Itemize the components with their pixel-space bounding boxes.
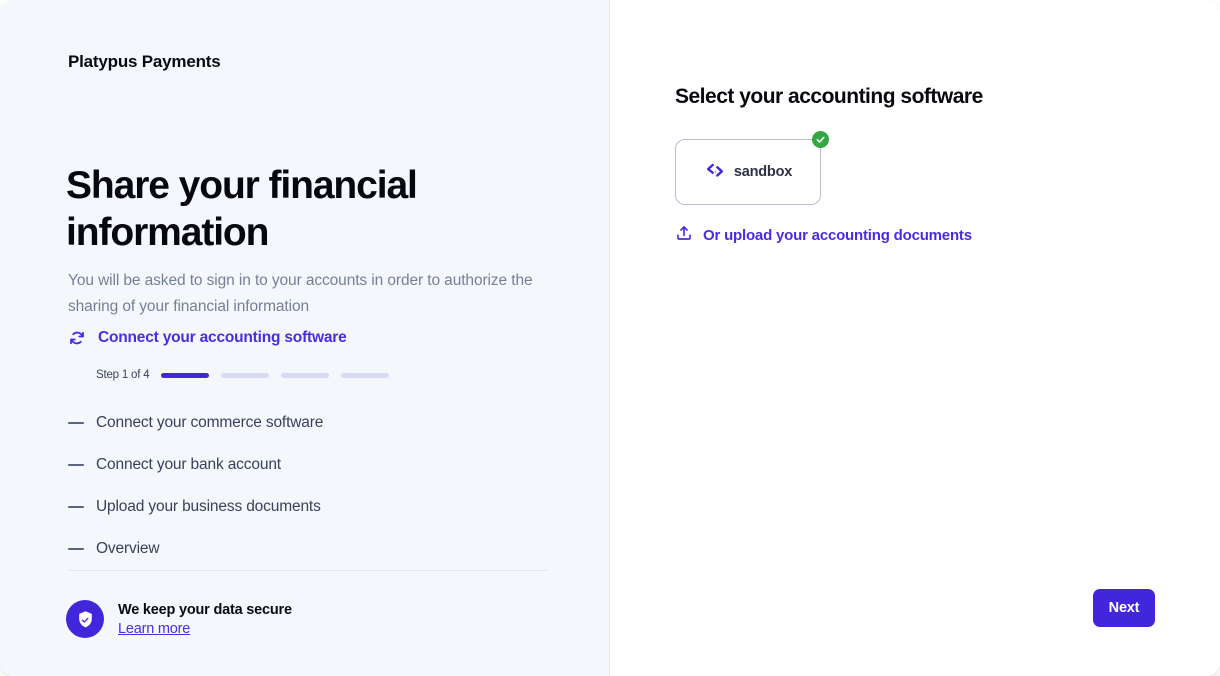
data-security-block: We keep your data secure Learn more xyxy=(66,600,292,638)
step-item-bank[interactable]: Connect your bank account xyxy=(68,444,548,486)
learn-more-link[interactable]: Learn more xyxy=(118,621,292,637)
progress-track xyxy=(161,373,389,378)
dash-icon xyxy=(68,464,84,466)
onboarding-screen: Platypus Payments Share your financial i… xyxy=(0,0,1220,676)
data-security-title: We keep your data secure xyxy=(118,602,292,618)
progress-segment-4 xyxy=(341,373,389,378)
step-label: Upload your business documents xyxy=(96,498,321,516)
step-item-active[interactable]: Connect your accounting software xyxy=(68,329,347,347)
step-progress: Step 1 of 4 xyxy=(96,369,389,381)
progress-segment-1 xyxy=(161,373,209,378)
upload-icon xyxy=(675,224,693,247)
step-item-commerce[interactable]: Connect your commerce software xyxy=(68,402,548,444)
dash-icon xyxy=(68,506,84,508)
provider-card-sandbox[interactable]: sandbox xyxy=(675,139,821,205)
step-label: Overview xyxy=(96,540,159,558)
upload-label: Or upload your accounting documents xyxy=(703,227,972,244)
check-circle-icon xyxy=(812,131,829,148)
page-title: Share your financial information xyxy=(66,162,536,256)
step-label-active: Connect your accounting software xyxy=(98,329,347,347)
step-item-documents[interactable]: Upload your business documents xyxy=(68,486,548,528)
progress-segment-2 xyxy=(221,373,269,378)
provider-name: sandbox xyxy=(734,164,792,180)
step-item-overview[interactable]: Overview xyxy=(68,528,548,570)
steps-list: Connect your commerce software Connect y… xyxy=(68,402,548,570)
progress-label: Step 1 of 4 xyxy=(96,369,149,381)
step-label: Connect your bank account xyxy=(96,456,281,474)
data-security-text: We keep your data secure Learn more xyxy=(118,602,292,637)
code-brackets-icon xyxy=(704,159,726,186)
next-button[interactable]: Next xyxy=(1093,589,1155,627)
page-subtitle: You will be asked to sign in to your acc… xyxy=(68,268,548,320)
section-title: Select your accounting software xyxy=(675,85,983,109)
shield-check-icon xyxy=(66,600,104,638)
brand-title: Platypus Payments xyxy=(68,52,221,72)
dash-icon xyxy=(68,422,84,424)
right-panel: Select your accounting software sandbox xyxy=(610,0,1220,676)
divider xyxy=(68,570,548,571)
left-panel: Platypus Payments Share your financial i… xyxy=(0,0,610,676)
sync-icon xyxy=(68,329,86,347)
step-label: Connect your commerce software xyxy=(96,414,323,432)
upload-documents-link[interactable]: Or upload your accounting documents xyxy=(675,224,972,247)
dash-icon xyxy=(68,548,84,550)
progress-segment-3 xyxy=(281,373,329,378)
onboarding-card: Platypus Payments Share your financial i… xyxy=(0,0,1220,676)
